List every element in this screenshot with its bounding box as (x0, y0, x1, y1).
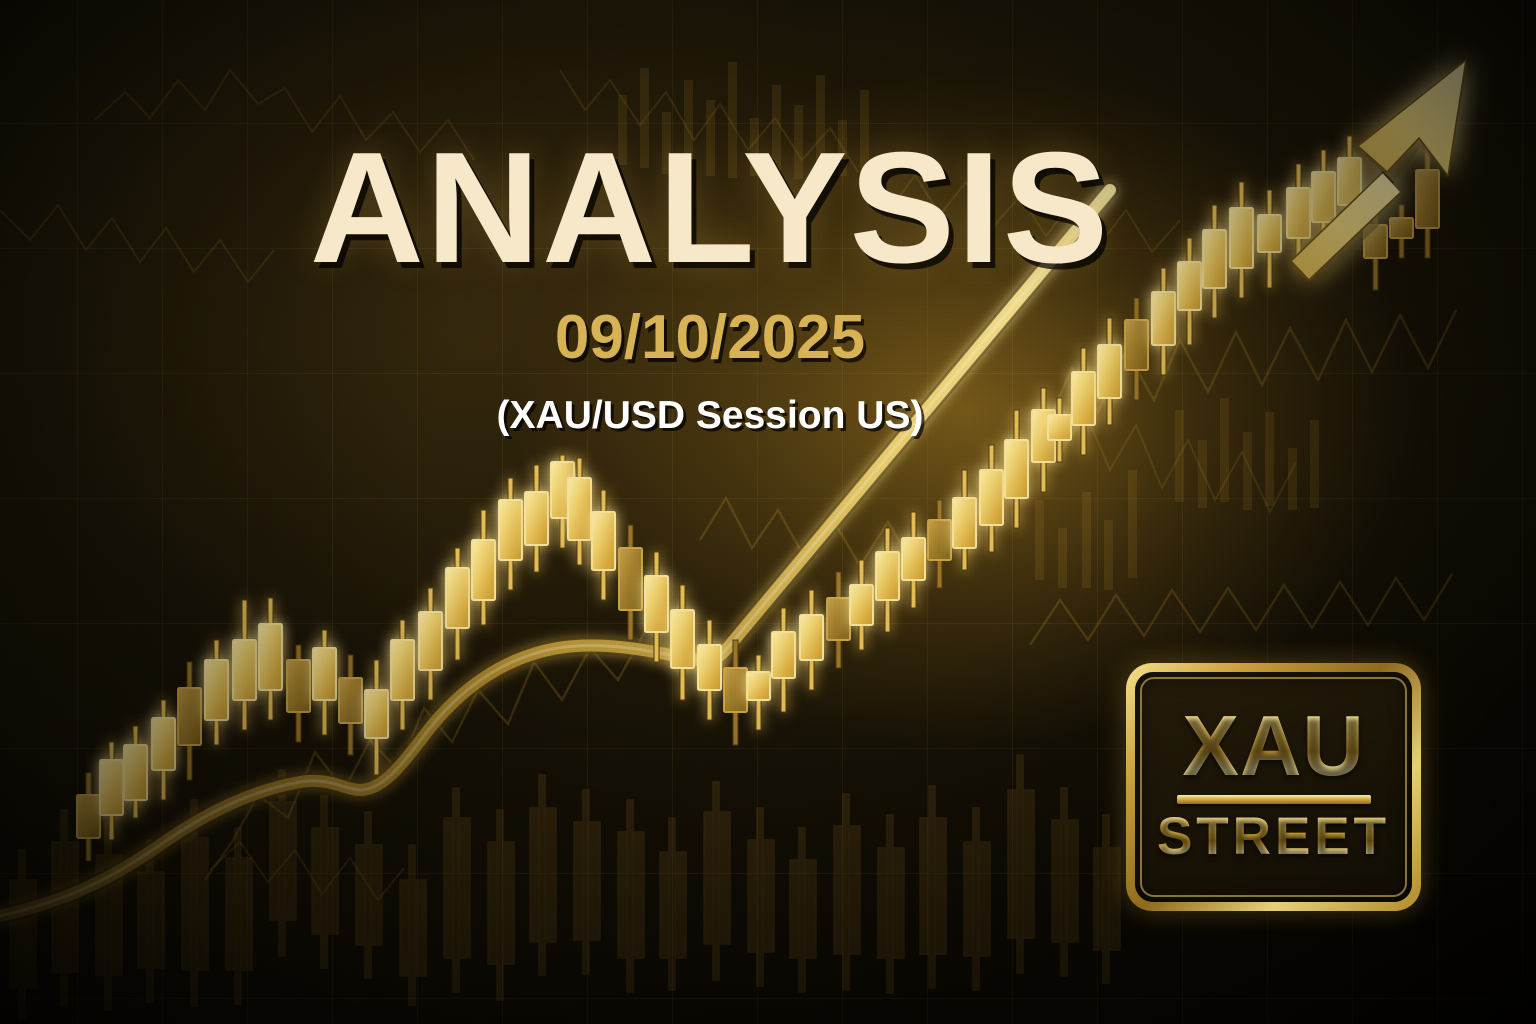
pair-session-subtitle: (XAU/USD Session US) (0, 396, 1420, 435)
xau-street-logo[interactable]: XAU STREET (1126, 663, 1421, 911)
analysis-banner: ANALYSIS 09/10/2025 (XAU/USD Session US)… (0, 0, 1536, 1024)
logo-primary-text: XAU (1182, 707, 1364, 788)
logo-text-group: XAU STREET (1126, 663, 1421, 911)
logo-divider (1177, 795, 1371, 804)
analysis-date: 09/10/2025 (0, 307, 1420, 369)
page-title: ANALYSIS (0, 129, 1420, 287)
logo-secondary-text: STREET (1157, 810, 1390, 863)
